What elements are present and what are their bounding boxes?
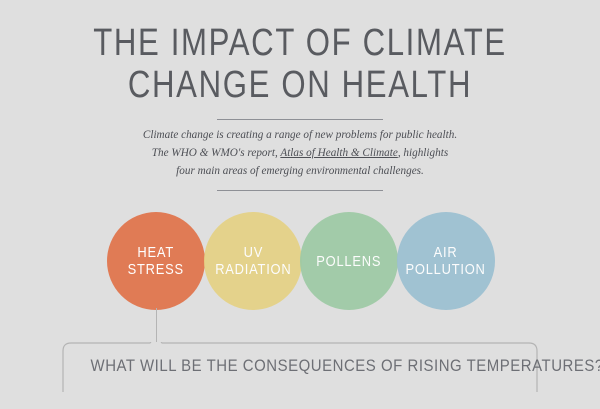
connector-stem	[156, 308, 157, 342]
circle-pollens[interactable]: POLLENS	[300, 212, 398, 310]
subtitle-line-2-before: The WHO & WMO's report,	[152, 147, 281, 159]
divider-bottom	[217, 190, 383, 191]
circle-label-heat-stress: HEAT STRESS	[128, 244, 184, 278]
divider-top	[217, 119, 383, 120]
category-circles-row: HEAT STRESS UV RADIATION POLLENS AIR POL…	[0, 212, 600, 312]
subtitle-line-1: Climate change is creating a range of ne…	[143, 129, 457, 141]
subtitle-line-2-after: , highlights	[398, 147, 448, 159]
circle-label-air-pollution: AIR POLLUTION	[406, 244, 486, 278]
title-line-2: CHANGE ON HEALTH	[54, 64, 546, 106]
circle-label-pollens: POLLENS	[317, 253, 382, 270]
subtitle-line-3: four main areas of emerging environmenta…	[176, 165, 424, 177]
subtitle-paragraph: Climate change is creating a range of ne…	[130, 126, 470, 180]
report-title-link[interactable]: Atlas of Health & Climate	[280, 147, 397, 159]
circle-label-uv-radiation: UV RADIATION	[215, 244, 291, 278]
circle-heat-stress[interactable]: HEAT STRESS	[107, 212, 205, 310]
footer-caption: WHAT WILL BE THE CONSEQUENCES OF RISING …	[91, 356, 510, 376]
footer-bracket: WHAT WILL BE THE CONSEQUENCES OF RISING …	[62, 342, 538, 392]
circle-uv-radiation[interactable]: UV RADIATION	[204, 212, 302, 310]
title-line-1: THE IMPACT OF CLIMATE	[54, 22, 546, 64]
page-title: THE IMPACT OF CLIMATE CHANGE ON HEALTH	[0, 22, 600, 106]
infographic-canvas: THE IMPACT OF CLIMATE CHANGE ON HEALTH C…	[0, 0, 600, 409]
circle-air-pollution[interactable]: AIR POLLUTION	[397, 212, 495, 310]
